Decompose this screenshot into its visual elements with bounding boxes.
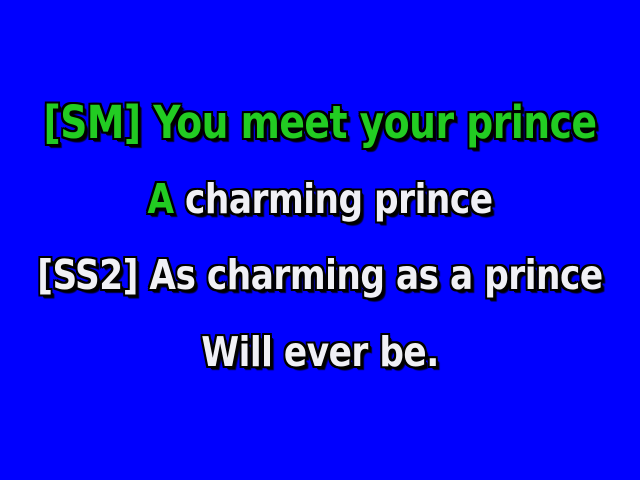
lyric-line-1: [SM] You meet your prince: [22, 100, 617, 145]
lyric-line-4: Will ever be.: [22, 332, 617, 373]
lyric-line-1-sung-segment: [SM] You meet your prince: [43, 96, 596, 149]
lyric-line-4-pending-segment: Will ever be.: [201, 328, 439, 376]
lyric-line-2-pending-segment: charming prince: [174, 175, 493, 223]
lyric-line-3: [SS2] As charming as a prince: [22, 255, 617, 296]
lyric-line-2-sung-segment: A: [147, 175, 173, 223]
karaoke-video-screen: [SM] You meet your prince A charming pri…: [0, 0, 640, 480]
lyric-stack: [SM] You meet your prince A charming pri…: [0, 0, 640, 480]
lyric-line-3-pending-segment: [SS2] As charming as a prince: [37, 251, 602, 299]
lyric-line-2: A charming prince: [22, 179, 617, 220]
